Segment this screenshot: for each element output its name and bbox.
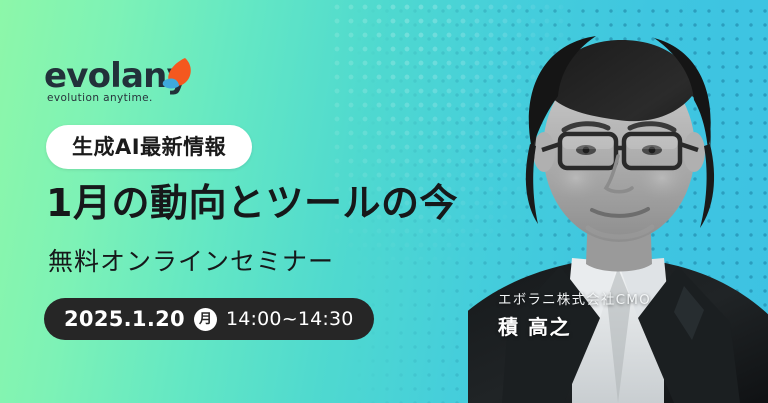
speaker-credit: エボラニ株式会社CMO 積 高之 [498, 292, 718, 339]
logo-tagline: evolution anytime. [47, 93, 153, 104]
evolany-logo: evolany evolution anytime. [44, 57, 244, 109]
topic-badge: 生成AI最新情報 [46, 125, 252, 169]
weekday-badge: 月 [194, 308, 217, 331]
schedule-pill: 2025.1.20 月 14:00~14:30 [44, 298, 374, 340]
evolany-leaf-mark-icon [152, 55, 196, 97]
weekday-label: 月 [199, 313, 212, 326]
subheadline: 無料オンラインセミナー [48, 248, 334, 276]
topic-badge-label: 生成AI最新情報 [72, 137, 226, 158]
webinar-banner: evolany evolution anytime. 生成AI最新情報 1月の動… [0, 0, 768, 403]
speaker-role: エボラニ株式会社CMO [498, 292, 718, 308]
banner-content: evolany evolution anytime. 生成AI最新情報 1月の動… [44, 0, 514, 403]
speaker-name: 積 高之 [498, 315, 718, 339]
schedule-time: 14:00~14:30 [226, 310, 354, 329]
schedule-date: 2025.1.20 [64, 309, 185, 330]
headline: 1月の動向とツールの今 [46, 183, 458, 225]
